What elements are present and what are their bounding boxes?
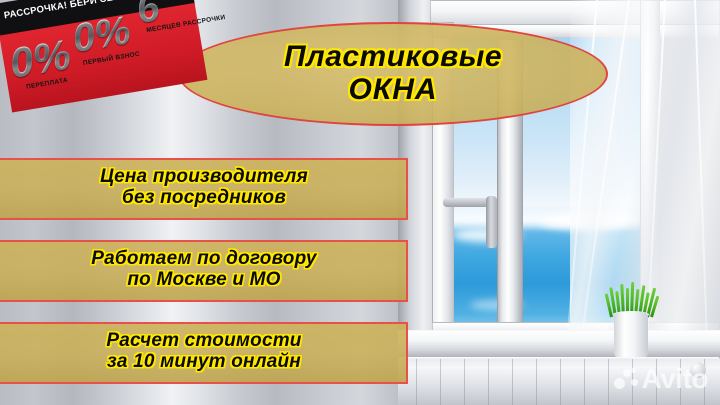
- page-title: Пластиковые ОКНА: [178, 22, 608, 126]
- feature-bar-3-line-2: за 10 минут онлайн: [0, 351, 408, 372]
- window-sill: [398, 330, 720, 354]
- avito-watermark: Avito: [614, 365, 708, 393]
- window-handle[interactable]: [486, 196, 497, 248]
- feature-bar-3-line-1: Расчет стоимости: [0, 330, 408, 351]
- window-handle-arm[interactable]: [443, 198, 489, 207]
- feature-bar-2-line-1: Работаем по договору: [0, 248, 408, 269]
- feature-bar-3-text: Расчет стоимости за 10 минут онлайн: [0, 330, 408, 373]
- feature-bar-2-line-2: по Москве и МО: [0, 269, 408, 290]
- feature-bar-2-text: Работаем по договору по Москве и МО: [0, 248, 408, 291]
- avito-wordmark: Avito: [642, 365, 708, 393]
- headline-line-2: ОКНА: [348, 72, 437, 107]
- avito-logo-icon: [614, 367, 638, 391]
- advertisement-banner: Пластиковые ОКНА Цена производителя без …: [0, 0, 720, 405]
- feature-bar-1-text: Цена производителя без посредников: [0, 166, 408, 209]
- plant-pot: [614, 312, 648, 358]
- headline-line-1: Пластиковые: [284, 41, 502, 73]
- feature-bar-1-line-2: без посредников: [0, 187, 408, 208]
- feature-bar-1-line-1: Цена производителя: [0, 166, 408, 187]
